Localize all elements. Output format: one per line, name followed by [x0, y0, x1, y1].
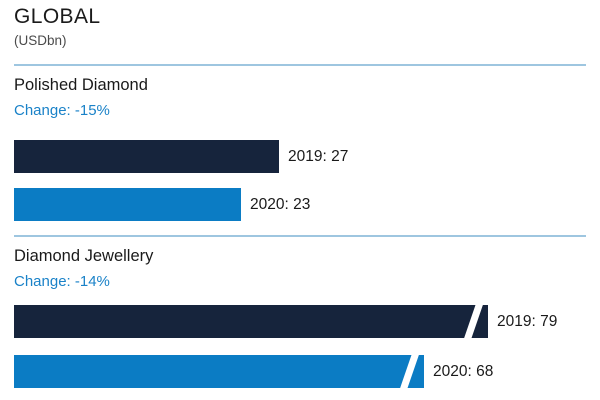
axis-break-marker-2020 — [398, 354, 424, 389]
axis-break-marker-2019 — [462, 304, 488, 339]
change-label-diamond-jewellery: Change: -14% — [14, 271, 586, 292]
bar-diamond-jewellery-2019 — [14, 305, 488, 338]
section-title-polished-diamond: Polished Diamond — [14, 74, 586, 96]
bar-label-diamond-jewellery-2019: 2019: 79 — [497, 312, 557, 332]
change-label-polished-diamond: Change: -15% — [14, 100, 586, 121]
bar-row-diamond-jewellery-2020: 2020: 68 — [14, 355, 493, 388]
chart-container: GLOBAL (USDbn) Polished Diamond Change: … — [0, 0, 600, 400]
section-divider-middle — [14, 235, 586, 237]
chart-header: GLOBAL (USDbn) — [14, 4, 586, 50]
section-diamond-jewellery: Diamond Jewellery Change: -14% — [14, 245, 586, 292]
bar-diamond-jewellery-2020 — [14, 355, 424, 388]
bar-label-polished-diamond-2019: 2019: 27 — [288, 147, 348, 167]
bar-row-diamond-jewellery-2019: 2019: 79 — [14, 305, 557, 338]
bar-label-polished-diamond-2020: 2020: 23 — [250, 195, 310, 215]
section-divider-top — [14, 64, 586, 66]
bar-polished-diamond-2020 — [14, 188, 241, 221]
bar-row-polished-diamond-2020: 2020: 23 — [14, 188, 310, 221]
section-title-diamond-jewellery: Diamond Jewellery — [14, 245, 586, 267]
chart-subtitle-units: (USDbn) — [14, 32, 586, 50]
bar-row-polished-diamond-2019: 2019: 27 — [14, 140, 348, 173]
chart-title: GLOBAL — [14, 4, 586, 30]
bar-label-diamond-jewellery-2020: 2020: 68 — [433, 362, 493, 382]
bar-polished-diamond-2019 — [14, 140, 279, 173]
section-polished-diamond: Polished Diamond Change: -15% — [14, 74, 586, 121]
